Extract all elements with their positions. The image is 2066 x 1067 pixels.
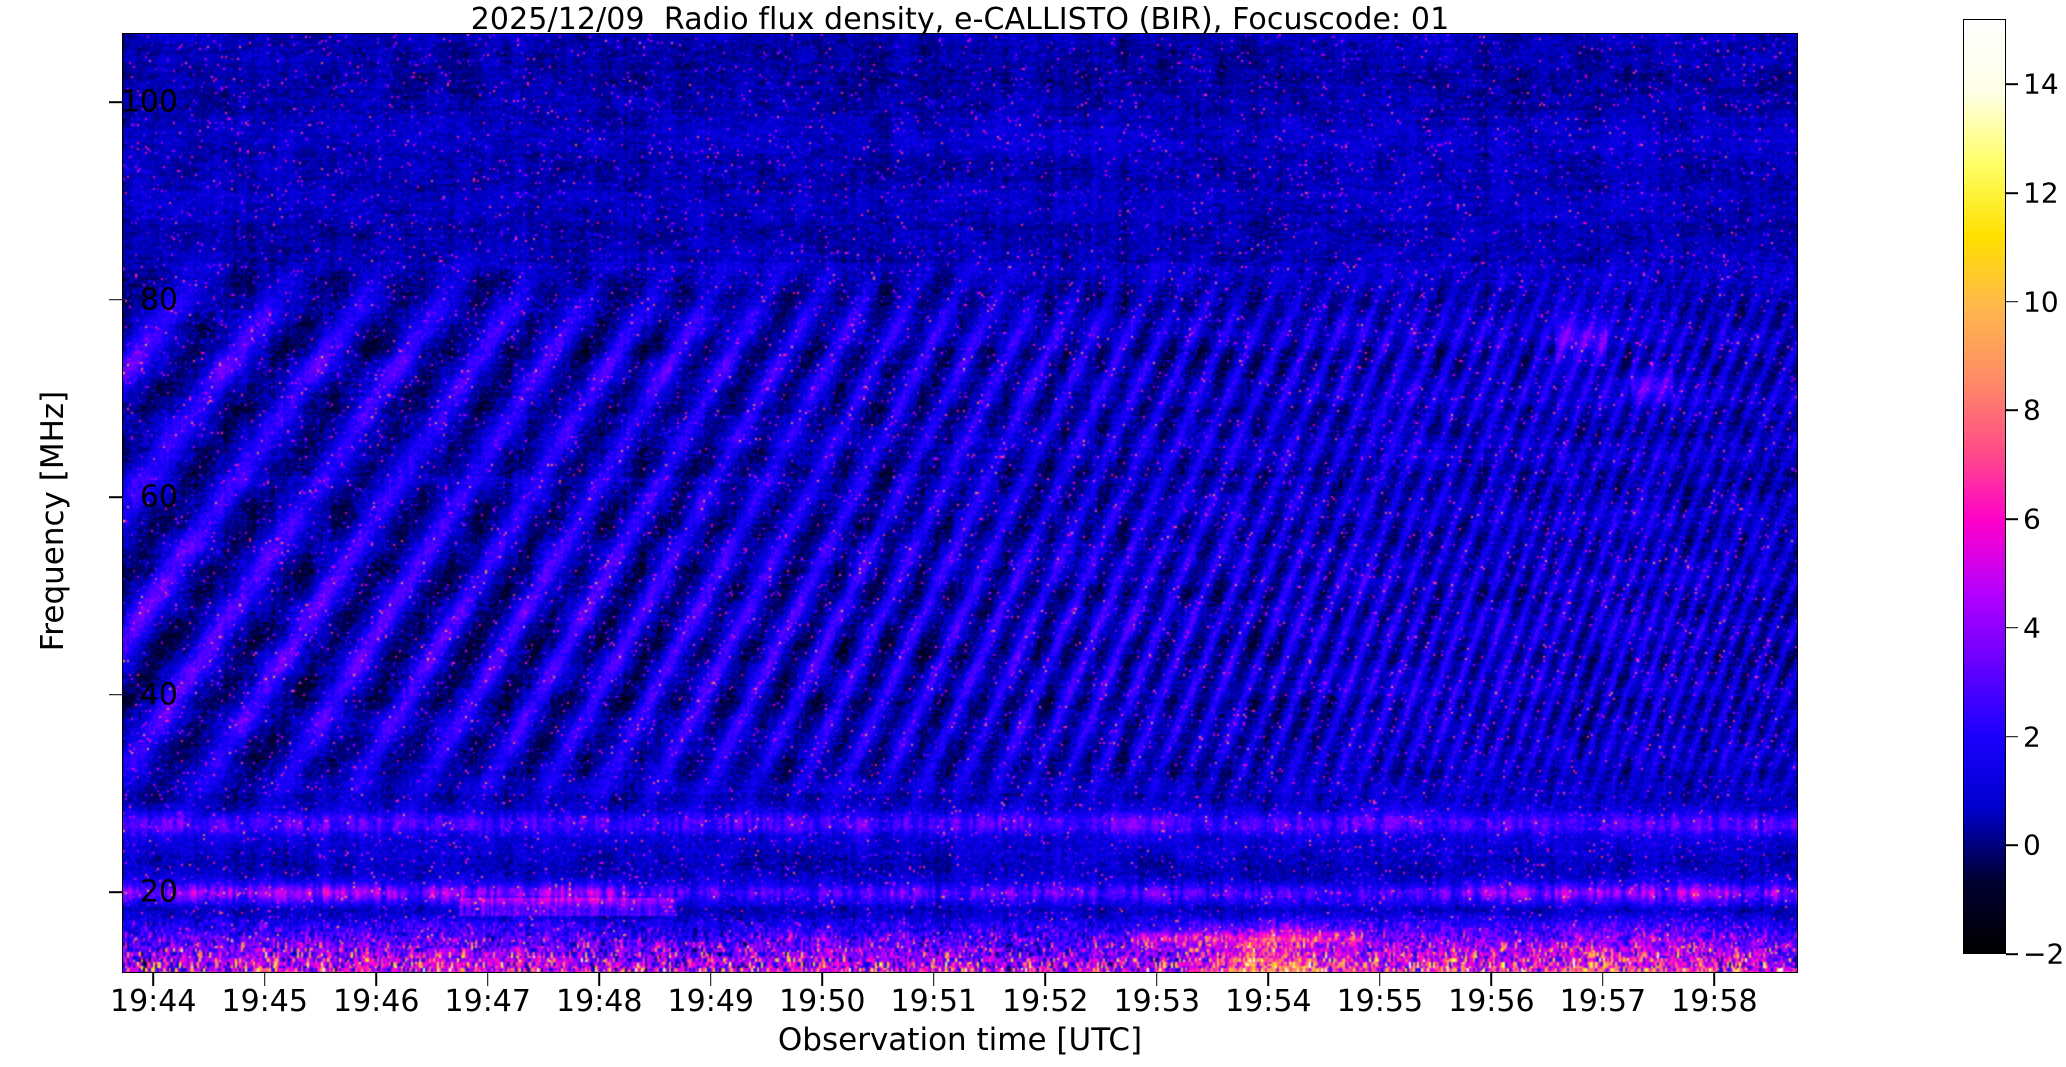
y-tick-mark [109,496,122,498]
x-tick-mark [375,973,377,986]
colorbar-tick-mark [2006,83,2018,85]
x-tick-mark [1268,973,1270,986]
spectrogram-image[interactable] [123,34,1798,973]
y-tick-mark [109,101,122,103]
colorbar-tick-label: 6 [2023,503,2066,536]
figure-title: 2025/12/09 Radio flux density, e-CALLIST… [0,2,1920,37]
x-tick-mark [1156,973,1158,986]
colorbar-tick-label: 8 [2023,394,2066,427]
figure-canvas: 2025/12/09 Radio flux density, e-CALLIST… [0,0,2066,1067]
colorbar-tick-mark [2006,844,2018,846]
x-tick-mark [1491,973,1493,986]
colorbar[interactable] [1963,19,2006,954]
colorbar-tick-mark [2006,953,2018,955]
colorbar-tick-mark [2006,518,2018,520]
x-tick-mark [1714,973,1716,986]
x-tick-mark [710,973,712,986]
x-tick-mark [152,973,154,986]
x-tick-mark [264,973,266,986]
colorbar-tick-label: 4 [2023,611,2066,644]
x-tick-mark [487,973,489,986]
colorbar-tick-mark [2006,301,2018,303]
colorbar-tick-label: −2 [2023,938,2066,971]
x-axis-label: Observation time [UTC] [122,1022,1798,1058]
y-tick-mark [109,299,122,301]
y-tick-mark [109,891,122,893]
colorbar-tick-label: 12 [2023,176,2066,209]
x-tick-mark [1602,973,1604,986]
colorbar-tick-mark [2006,627,2018,629]
colorbar-tick-mark [2006,192,2018,194]
colorbar-tick-label: 14 [2023,68,2066,101]
x-tick-mark [598,973,600,986]
x-tick-mark [933,973,935,986]
x-tick-mark [1045,973,1047,986]
x-tick-label: 19:58 [1614,984,1814,1019]
x-tick-mark [821,973,823,986]
x-tick-mark [1379,973,1381,986]
spectrogram-axes[interactable] [122,33,1798,973]
y-tick-mark [109,694,122,696]
colorbar-tick-mark [2006,736,2018,738]
colorbar-gradient [1964,20,2005,953]
colorbar-tick-label: 10 [2023,285,2066,318]
colorbar-tick-label: 0 [2023,829,2066,862]
colorbar-tick-label: 2 [2023,720,2066,753]
colorbar-tick-mark [2006,410,2018,412]
